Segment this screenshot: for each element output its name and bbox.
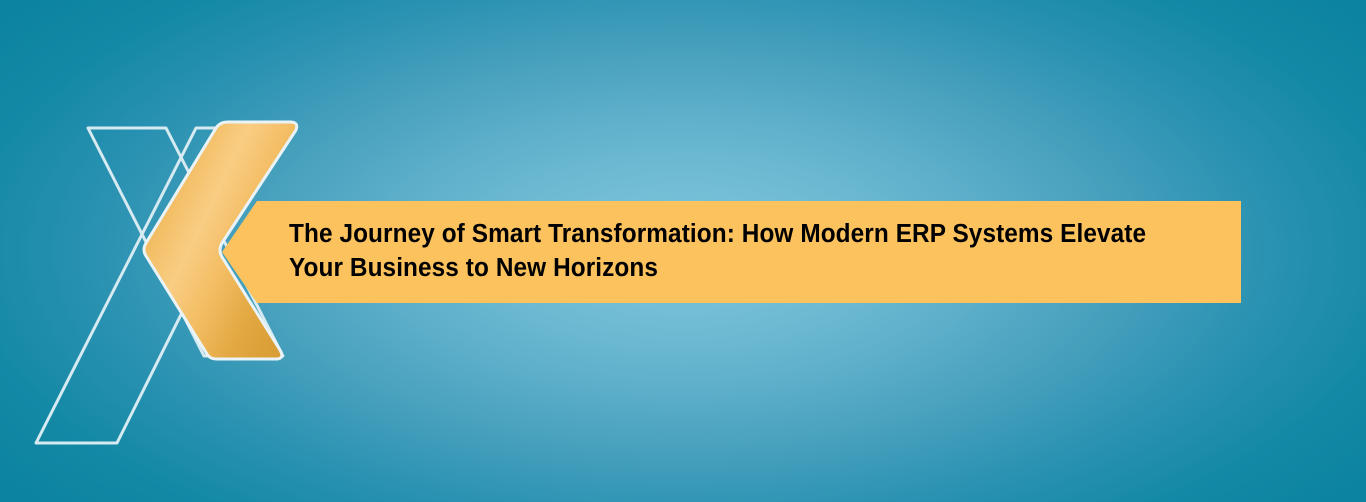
title-banner: The Journey of Smart Transformation: How…: [222, 201, 1241, 303]
banner-title: The Journey of Smart Transformation: How…: [289, 217, 1177, 285]
banner-root: The Journey of Smart Transformation: How…: [0, 0, 1366, 502]
